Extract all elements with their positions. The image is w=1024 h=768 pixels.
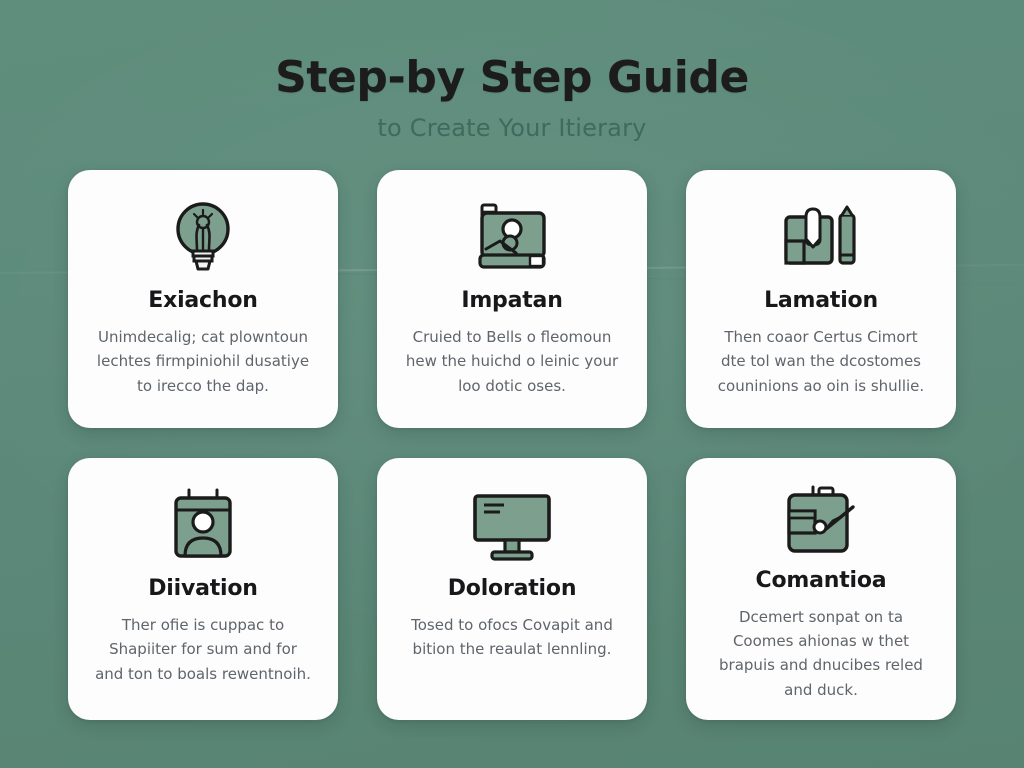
step-card-title: Lamation	[764, 288, 878, 313]
step-card-5[interactable]: Doloration Tosed to ofocs Covapit and bi…	[377, 458, 647, 720]
photo-frame-person-icon	[472, 196, 552, 282]
step-card-title: Exiachon	[148, 288, 258, 313]
step-card-4[interactable]: Diivation Ther ofie is cuppac to Shapiit…	[68, 458, 338, 720]
id-badge-person-icon	[170, 484, 236, 570]
step-card-body: Then coaor Certus Cimort dte tol wan the…	[713, 325, 929, 398]
page-subtitle: to Create Your Itierary	[0, 114, 1024, 142]
step-card-title: Impatan	[461, 288, 562, 313]
step-card-body: Ther ofie is cuppac to Shapiiter for sum…	[95, 613, 311, 686]
step-card-title: Comantioa	[756, 568, 887, 593]
lightbulb-icon	[170, 196, 236, 282]
clipboard-check-icon	[781, 484, 861, 562]
step-card-body: Cruied to Bells o fleomoun hew the huich…	[404, 325, 620, 398]
step-card-3[interactable]: Lamation Then coaor Certus Cimort dte to…	[686, 170, 956, 428]
notepad-pen-icon	[780, 196, 862, 282]
step-card-6[interactable]: Comantioa Dcemert sonpat on ta Coomes ah…	[686, 458, 956, 720]
page-title: Step-by Step Guide	[0, 54, 1024, 102]
step-card-2[interactable]: Impatan Cruied to Bells o fleomoun hew t…	[377, 170, 647, 428]
step-card-body: Tosed to ofocs Covapit and bition the re…	[404, 613, 620, 662]
step-card-grid: Exiachon Unimdecalig; cat plowntoun lech…	[68, 170, 958, 720]
step-card-body: Dcemert sonpat on ta Coomes ahionas w th…	[713, 605, 929, 702]
step-card-title: Diivation	[148, 576, 258, 601]
monitor-icon	[470, 484, 554, 570]
step-card-body: Unimdecalig; cat plowntoun lechtes firmp…	[95, 325, 311, 398]
header: Step-by Step Guide to Create Your Itiera…	[0, 54, 1024, 142]
step-card-1[interactable]: Exiachon Unimdecalig; cat plowntoun lech…	[68, 170, 338, 428]
infographic-canvas: Step-by Step Guide to Create Your Itiera…	[0, 0, 1024, 768]
step-card-title: Doloration	[448, 576, 577, 601]
